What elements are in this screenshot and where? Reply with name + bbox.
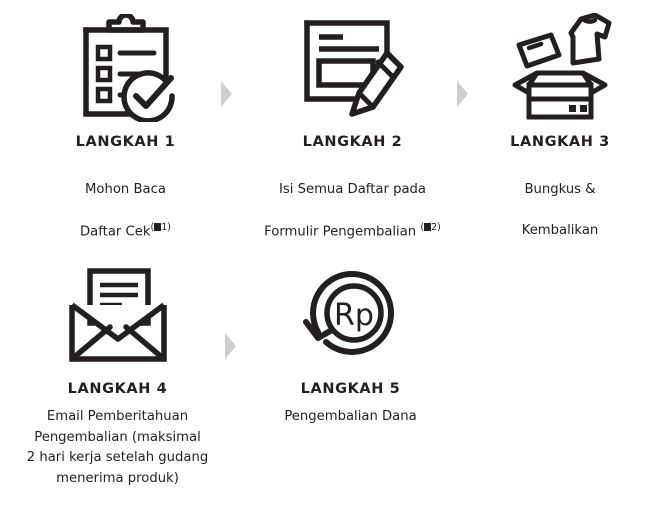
flow-arrow-icon: [221, 81, 232, 107]
step-1: LANGKAH 1 Mohon Baca Daftar Cek(1): [33, 8, 218, 243]
step-1-title: LANGKAH 1: [76, 134, 176, 150]
step-2-desc-line-1: Isi Semua Daftar pada: [279, 182, 426, 197]
step-4-title: LANGKAH 4: [68, 381, 168, 397]
step-1-desc-line-2: Daftar Cek: [80, 225, 150, 240]
flow-arrow-icon: [225, 333, 236, 359]
step-3: LANGKAH 3 Bungkus & Kembalikan: [485, 8, 635, 242]
step-4-description: Email Pemberitahuan Pengembalian (maksim…: [27, 407, 208, 489]
refund-currency-label: Rp: [334, 298, 374, 333]
refund-rupiah-icon: Rp: [296, 255, 406, 375]
step-5-title: LANGKAH 5: [301, 381, 401, 397]
step-2-footnote: (2): [420, 222, 440, 233]
clipboard-checklist-icon: [76, 8, 176, 128]
step-2-description: Isi Semua Daftar pada Formulir Pengembal…: [264, 160, 441, 243]
step-1-desc-line-1: Mohon Baca: [85, 182, 166, 197]
step-2-desc-line-2: Formulir Pengembalian: [264, 225, 420, 240]
open-box-package-icon: [507, 8, 613, 128]
step-3-desc-line-1: Bungkus &: [524, 182, 595, 197]
step-3-description: Bungkus & Kembalikan: [522, 160, 599, 242]
flow-row-top: LANGKAH 1 Mohon Baca Daftar Cek(1): [0, 0, 650, 243]
form-pencil-icon: [299, 8, 407, 128]
step-1-footnote: (1): [151, 222, 171, 233]
step-3-title: LANGKAH 3: [510, 134, 610, 150]
step-1-description: Mohon Baca Daftar Cek(1): [80, 160, 171, 243]
step-2-title: LANGKAH 2: [303, 134, 403, 150]
step-4: LANGKAH 4 Email Pemberitahuan Pengembali…: [10, 255, 225, 489]
flow-arrow-icon: [457, 81, 468, 107]
step-5-description: Pengembalian Dana: [284, 407, 416, 427]
step-5: Rp LANGKAH 5 Pengembalian Dana: [253, 255, 448, 427]
step-2: LANGKAH 2 Isi Semua Daftar pada Formulir…: [250, 8, 455, 243]
step-3-desc-line-2: Kembalikan: [522, 223, 599, 238]
returns-process-flow: LANGKAH 1 Mohon Baca Daftar Cek(1): [0, 0, 650, 509]
flow-row-bottom: LANGKAH 4 Email Pemberitahuan Pengembali…: [0, 243, 650, 489]
open-envelope-icon: [66, 255, 170, 375]
